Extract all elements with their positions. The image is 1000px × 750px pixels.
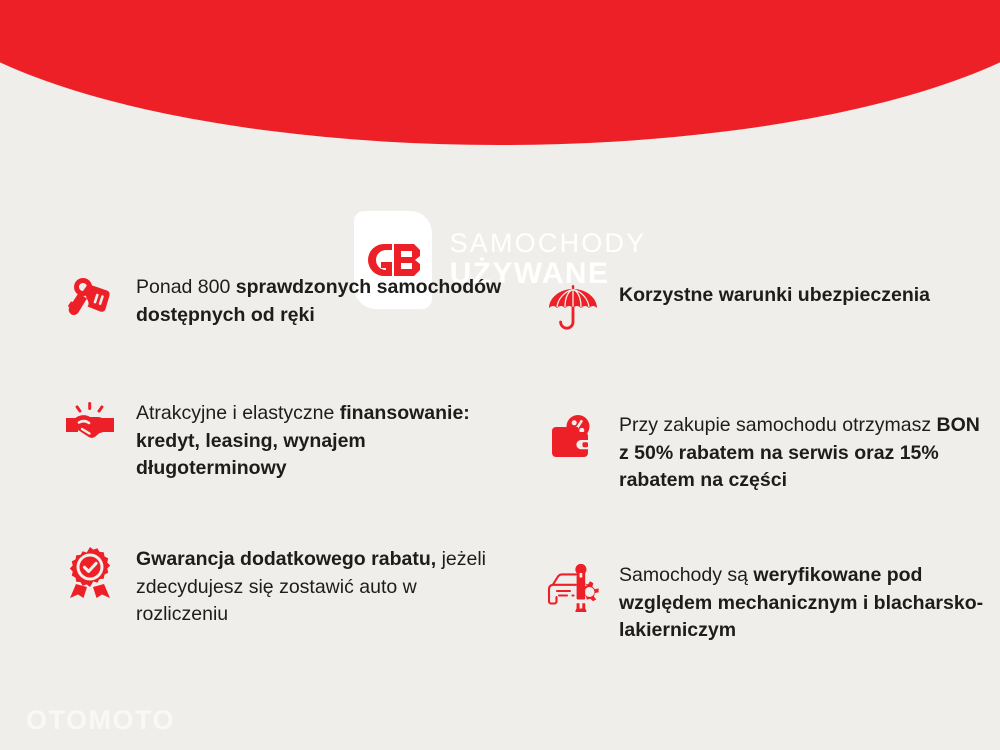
feature-text-car-key: Ponad 800 sprawdzonych samochodów dostęp… xyxy=(136,272,508,329)
feature-text-part: Przy zakupie samochodu otrzymasz xyxy=(619,414,937,436)
header-banner xyxy=(0,0,1000,145)
wallet-percent-icon xyxy=(545,410,601,462)
feature-item-voucher: Przy zakupie samochodu otrzymasz BON z 5… xyxy=(545,410,1000,530)
feature-text-voucher: Przy zakupie samochodu otrzymasz BON z 5… xyxy=(619,410,991,495)
features-column-left: Ponad 800 sprawdzonych samochodów dostęp… xyxy=(62,272,517,645)
otomoto-watermark-label: OTOMOTO xyxy=(26,705,175,736)
feature-item-car-key: Ponad 800 sprawdzonych samochodów dostęp… xyxy=(62,272,517,376)
feature-item-financing: Atrakcyjne i elastyczne finansowanie: kr… xyxy=(62,398,517,518)
feature-text-inspection: Samochody są weryfikowane pod względem m… xyxy=(619,560,991,645)
feature-text-part: Atrakcyjne i elastyczne xyxy=(136,402,340,424)
feature-text-part: Ponad 800 xyxy=(136,276,236,298)
features-grid: Ponad 800 sprawdzonych samochodów dostęp… xyxy=(0,272,1000,645)
feature-item-inspection: Samochody są weryfikowane pod względem m… xyxy=(545,560,1000,645)
otomoto-watermark: OTOMOTO xyxy=(26,705,175,736)
feature-item-insurance: Korzystne warunki ubezpieczenia xyxy=(545,280,1000,384)
feature-text-insurance: Korzystne warunki ubezpieczenia xyxy=(619,280,930,310)
umbrella-icon xyxy=(545,280,601,332)
feature-item-guarantee: Gwarancja dodatkowego rabatu, jeżeli zde… xyxy=(62,544,517,629)
brand-line-1: SAMOCHODY xyxy=(450,229,647,258)
handshake-icon xyxy=(62,398,118,446)
car-wrench-gear-icon xyxy=(545,560,601,612)
feature-text-part-bold: Gwarancja dodatkowego rabatu, xyxy=(136,548,442,570)
feature-text-guarantee: Gwarancja dodatkowego rabatu, jeżeli zde… xyxy=(136,544,508,629)
feature-text-part-bold: Korzystne warunki ubezpieczenia xyxy=(619,284,930,306)
car-key-icon xyxy=(62,272,118,320)
feature-text-financing: Atrakcyjne i elastyczne finansowanie: kr… xyxy=(136,398,508,483)
rosette-check-icon xyxy=(62,544,118,598)
features-column-right: Korzystne warunki ubezpieczenia xyxy=(545,272,1000,645)
feature-text-part: Samochody są xyxy=(619,564,753,586)
